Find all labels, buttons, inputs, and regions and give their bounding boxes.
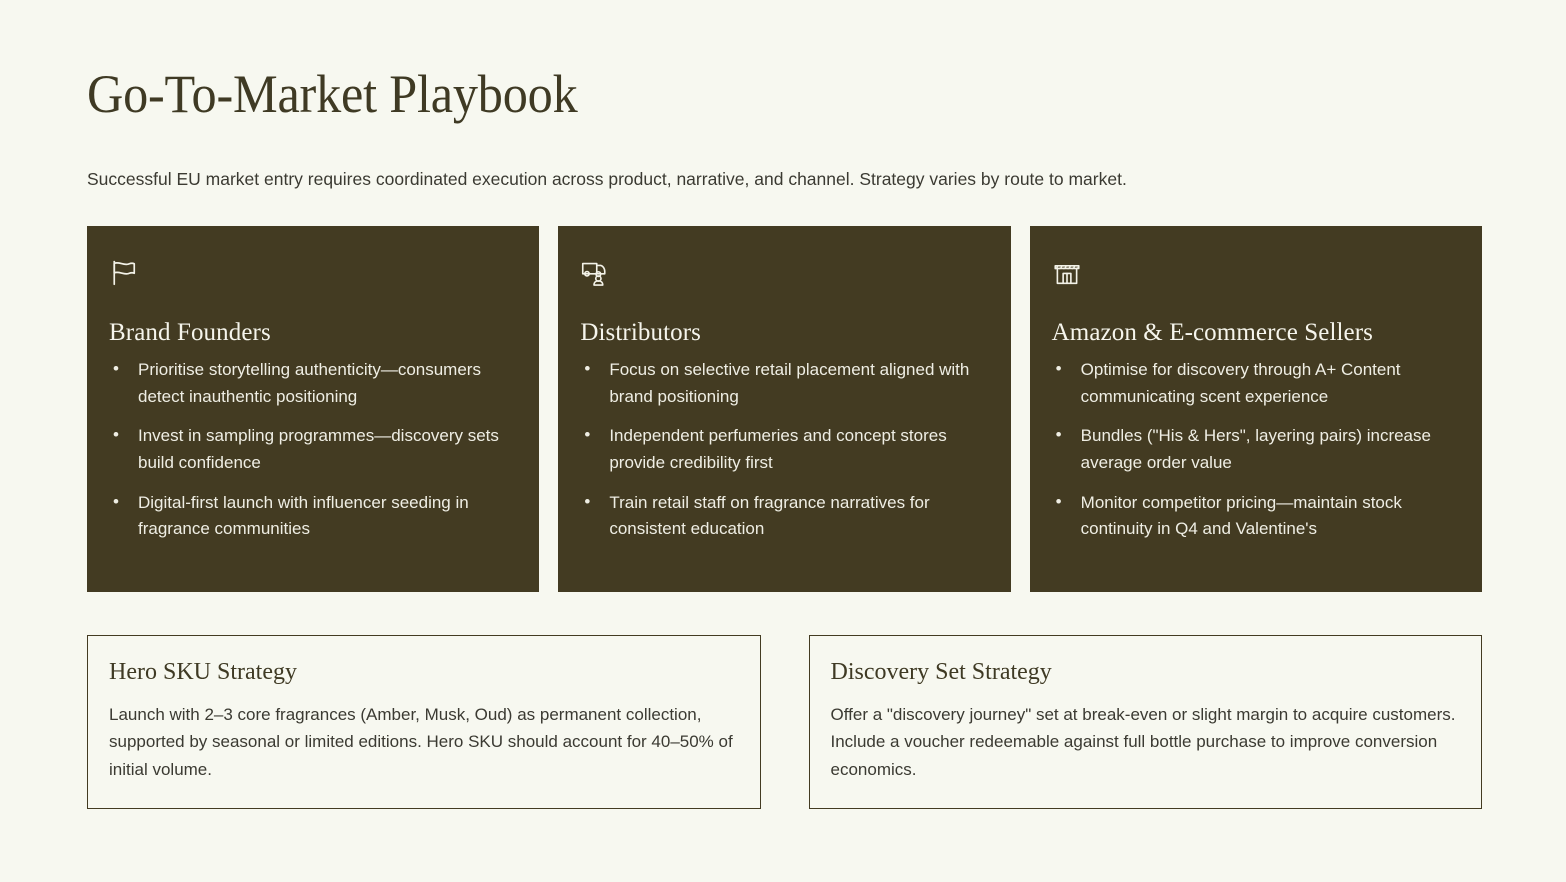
card-heading: Brand Founders <box>109 318 511 348</box>
audience-card-distributors: Distributors Focus on selective retail p… <box>558 226 1010 592</box>
strategy-box-hero-sku: Hero SKU Strategy Launch with 2–3 core f… <box>87 635 761 809</box>
list-item: Train retail staff on fragrance narrativ… <box>580 490 982 543</box>
card-bullet-list: Optimise for discovery through A+ Conten… <box>1052 357 1454 543</box>
list-item: Monitor competitor pricing—maintain stoc… <box>1052 490 1454 543</box>
list-item: Prioritise storytelling authenticity—con… <box>109 357 511 410</box>
card-bullet-list: Focus on selective retail placement alig… <box>580 357 982 543</box>
box-body: Launch with 2–3 core fragrances (Amber, … <box>109 701 736 784</box>
playbook-page: Go-To-Market Playbook Successful EU mark… <box>0 0 1566 882</box>
card-heading: Distributors <box>580 318 982 348</box>
audience-card-brand-founders: Brand Founders Prioritise storytelling a… <box>87 226 539 592</box>
audience-card-row: Brand Founders Prioritise storytelling a… <box>87 226 1482 592</box>
card-heading: Amazon & E-commerce Sellers <box>1052 318 1454 348</box>
list-item: Optimise for discovery through A+ Conten… <box>1052 357 1454 410</box>
list-item: Digital-first launch with influencer see… <box>109 490 511 543</box>
page-title: Go-To-Market Playbook <box>87 0 1384 123</box>
list-item: Independent perfumeries and concept stor… <box>580 423 982 476</box>
box-heading: Discovery Set Strategy <box>831 658 1458 687</box>
list-item: Invest in sampling programmes—discovery … <box>109 423 511 476</box>
strategy-box-row: Hero SKU Strategy Launch with 2–3 core f… <box>87 635 1482 809</box>
storefront-icon <box>1052 258 1082 288</box>
list-item: Focus on selective retail placement alig… <box>580 357 982 410</box>
card-bullet-list: Prioritise storytelling authenticity—con… <box>109 357 511 543</box>
delivery-truck-icon <box>580 258 610 288</box>
box-heading: Hero SKU Strategy <box>109 658 736 687</box>
flag-icon <box>109 258 139 288</box>
page-subtitle: Successful EU market entry requires coor… <box>87 123 1482 192</box>
content-container: Go-To-Market Playbook Successful EU mark… <box>87 0 1482 809</box>
box-body: Offer a "discovery journey" set at break… <box>831 701 1458 784</box>
audience-card-amazon-ecommerce: Amazon & E-commerce Sellers Optimise for… <box>1030 226 1482 592</box>
strategy-box-discovery-set: Discovery Set Strategy Offer a "discover… <box>809 635 1483 809</box>
list-item: Bundles ("His & Hers", layering pairs) i… <box>1052 423 1454 476</box>
